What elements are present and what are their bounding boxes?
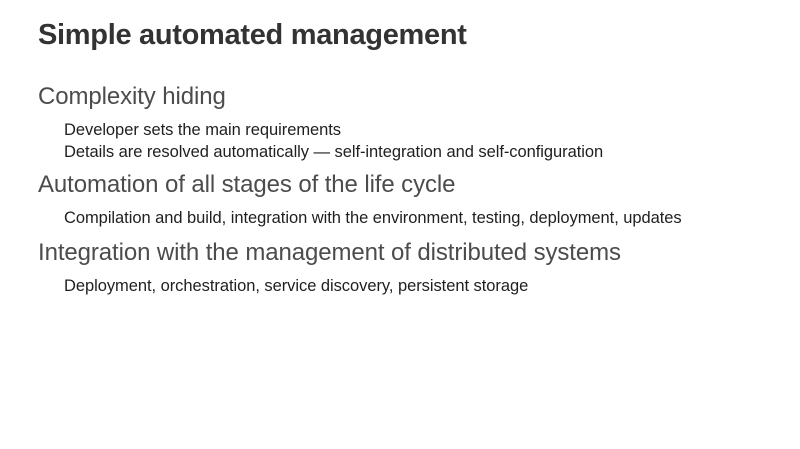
- section-heading-2: Automation of all stages of the life cyc…: [0, 170, 800, 200]
- section-integration-distributed-systems: Integration with the management of distr…: [0, 238, 800, 297]
- list-item: Details are resolved automatically — sel…: [0, 141, 800, 163]
- list-item: Compilation and build, integration with …: [0, 207, 800, 229]
- spacer: [0, 200, 800, 207]
- section-complexity-hiding: Complexity hiding Developer sets the mai…: [0, 82, 800, 163]
- page-title: Simple automated management: [38, 18, 467, 53]
- presentation-slide: Simple automated management Complexity h…: [0, 0, 800, 449]
- list-item: Developer sets the main requirements: [0, 119, 800, 141]
- section-automation-life-cycle: Automation of all stages of the life cyc…: [0, 170, 800, 229]
- section-heading-3: Integration with the management of distr…: [0, 238, 800, 268]
- spacer: [0, 268, 800, 275]
- list-item: Deployment, orchestration, service disco…: [0, 275, 800, 297]
- slide-content-body: Complexity hiding Developer sets the mai…: [0, 82, 800, 297]
- spacer: [0, 229, 800, 238]
- spacer: [0, 112, 800, 119]
- section-heading-1: Complexity hiding: [0, 82, 800, 112]
- spacer: [0, 163, 800, 170]
